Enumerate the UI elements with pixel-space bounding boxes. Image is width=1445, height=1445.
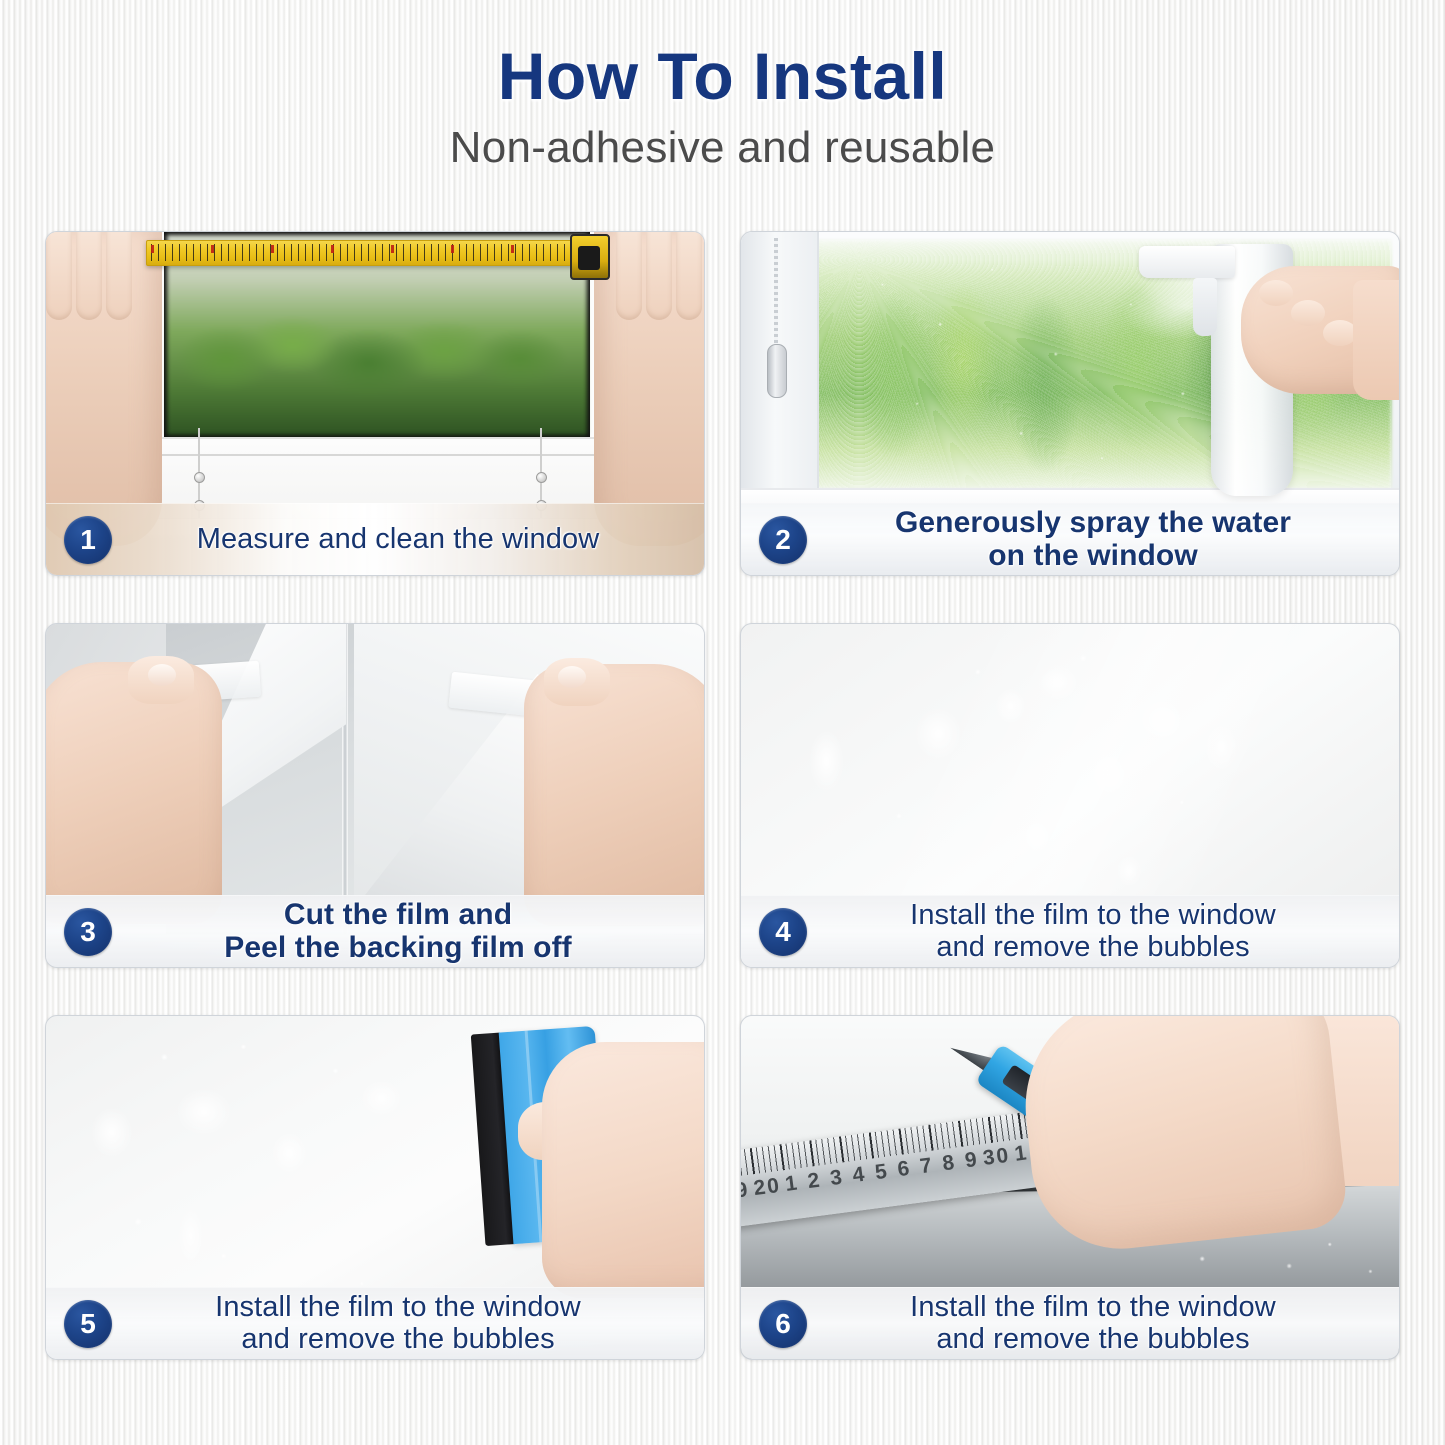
step-card-6[interactable]: 920123456789301234567894012345678 6 Inst… [740,1015,1400,1360]
step-caption-text-2: Generously spray the water on the window [825,507,1385,572]
page-title: How To Install [0,42,1445,111]
step-caption-3: 3 Cut the film and Peel the backing film… [46,895,704,967]
step-caption-6: 6 Install the film to the window and rem… [741,1287,1399,1359]
step-card-3[interactable]: 3 Cut the film and Peel the backing film… [45,623,705,968]
step-badge-2: 2 [759,516,807,564]
blind-clip [536,472,547,483]
step-badge-1: 1 [64,516,112,564]
step-card-1[interactable]: 1 Measure and clean the window [45,231,705,576]
step-caption-text-1: Measure and clean the window [130,524,690,555]
window-frame-left [741,232,819,511]
step-caption-text-5: Install the film to the window and remov… [130,1292,690,1355]
step-badge-5: 5 [64,1300,112,1348]
hand-left [46,232,162,546]
spray-trigger [1193,278,1217,336]
hand-right [524,664,704,926]
blind-chain-weight [767,344,787,398]
hand-holding-squeegee [542,1042,704,1298]
step-caption-text-4: Install the film to the window and remov… [825,900,1385,963]
page-subtitle: Non-adhesive and reusable [0,123,1445,173]
step-caption-4: 4 Install the film to the window and rem… [741,895,1399,967]
blind-chain [774,238,778,350]
hand-left [46,662,222,924]
hand-holding-knife [1015,1016,1349,1258]
spray-nozzle [1139,246,1235,278]
forearm [1353,280,1399,400]
step-card-5[interactable]: 3M 5 Install the film to the window and … [45,1015,705,1360]
step-badge-3: 3 [64,908,112,956]
hand-right [594,232,704,546]
blind-clip [194,472,205,483]
page-header: How To Install Non-adhesive and reusable [0,0,1445,173]
step-card-2[interactable]: 2 Generously spray the water on the wind… [740,231,1400,576]
step-badge-6: 6 [759,1300,807,1348]
steps-grid: 1 Measure and clean the window [45,231,1400,1360]
step-caption-2: 2 Generously spray the water on the wind… [741,503,1399,575]
step-caption-text-6: Install the film to the window and remov… [825,1292,1385,1355]
blind-rail [146,454,604,456]
step-card-4[interactable]: 4 Install the film to the window and rem… [740,623,1400,968]
tape-measure-case [570,234,610,280]
step-caption-1: 1 Measure and clean the window [46,503,704,575]
tape-measure-icon [146,240,578,266]
step-caption-text-3: Cut the film and Peel the backing film o… [130,899,690,964]
step-caption-5: 5 Install the film to the window and rem… [46,1287,704,1359]
step-badge-4: 4 [759,908,807,956]
